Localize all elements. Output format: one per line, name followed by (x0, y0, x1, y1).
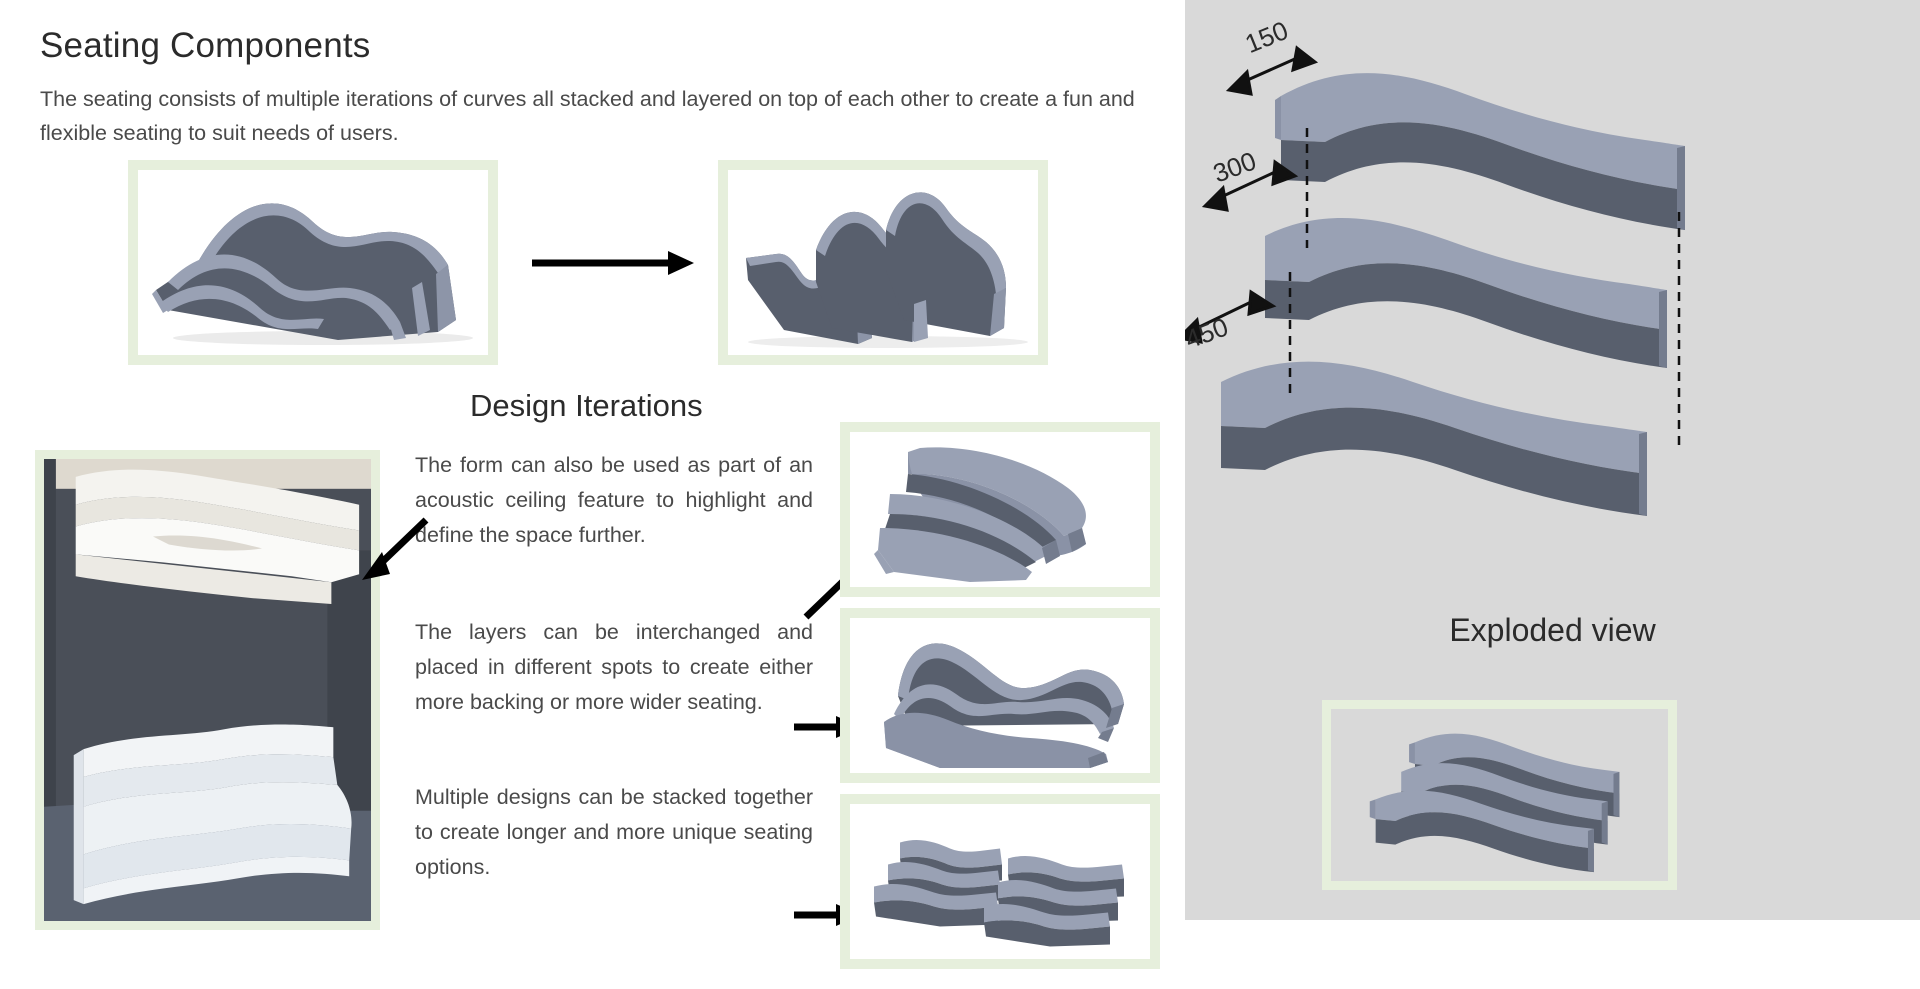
figure-iteration-3[interactable] (840, 794, 1160, 969)
figure-separated-layers[interactable] (718, 160, 1048, 365)
figure-iteration-2[interactable] (840, 608, 1160, 783)
interior-acoustic-ceiling-render (44, 459, 371, 921)
figure-exploded-view[interactable] (1322, 700, 1677, 890)
multiple-stacked-units-render (850, 804, 1150, 959)
dimensioned-exploded-diagram (1185, 0, 1920, 600)
page-title: Seating Components (40, 26, 370, 66)
paragraph-multiple-designs: Multiple designs can be stacked together… (415, 780, 813, 885)
presentation-page: Seating Components The seating consists … (0, 0, 1920, 989)
right-panel: 150 300 450 Exploded view (1185, 0, 1920, 920)
section-title-design-iterations: Design Iterations (470, 388, 703, 424)
arrow-assembled-to-parts (530, 248, 695, 278)
exploded-view-render (1331, 709, 1668, 881)
figure-assembled-seating[interactable] (128, 160, 498, 365)
figure-interior-render[interactable] (35, 450, 380, 930)
figure-iteration-1[interactable] (840, 422, 1160, 597)
stacked-curve-iteration-render (850, 432, 1150, 587)
intro-paragraph: The seating consists of multiple iterati… (40, 82, 1175, 150)
paragraph-acoustic-ceiling: The form can also be used as part of an … (415, 448, 813, 553)
left-content-pane: Seating Components The seating consists … (0, 0, 1185, 989)
exploded-view-title: Exploded view (1185, 612, 1920, 649)
paragraph-interchangeable-layers: The layers can be interchanged and place… (415, 615, 813, 720)
assembled-seating-render (138, 170, 488, 355)
interchanged-layers-render (850, 618, 1150, 773)
separated-layers-render (728, 170, 1038, 355)
